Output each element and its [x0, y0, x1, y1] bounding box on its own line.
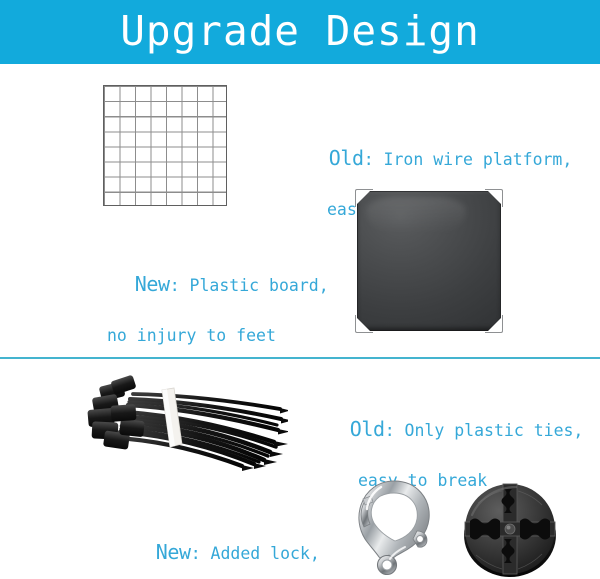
new-keyword: New	[135, 272, 170, 296]
board-corner-top-right	[485, 189, 503, 207]
board-edge-shading	[357, 191, 501, 331]
old-keyword: Old	[350, 417, 385, 441]
section-divider	[0, 357, 600, 359]
black-plastic-board-image	[357, 191, 501, 331]
board-corner-bottom-left	[355, 315, 373, 333]
metal-lobster-clasp-image	[343, 477, 445, 577]
new-platform-line2: no injury to feet	[95, 323, 329, 348]
new-lock-line1: Added lock,	[201, 544, 320, 563]
infographic-page: Upgrade Design Old: Iron wire platform, …	[0, 0, 600, 579]
new-separator: :	[191, 544, 201, 563]
old-ties-line1: Only plastic ties,	[395, 421, 584, 440]
board-corner-bottom-right	[485, 315, 503, 333]
new-platform-line1: Plastic board,	[180, 276, 329, 295]
round-connector-illustration	[458, 481, 562, 577]
old-keyword: Old	[329, 146, 364, 170]
new-separator: :	[170, 276, 180, 295]
lobster-clasp-illustration	[343, 477, 445, 577]
page-title: Upgrade Design	[120, 11, 480, 52]
board-corner-top-left	[355, 189, 373, 207]
iron-wire-mesh-platform-image	[103, 85, 227, 206]
round-black-connector-image	[458, 481, 562, 577]
header-banner: Upgrade Design	[0, 0, 600, 64]
old-separator: :	[364, 150, 374, 169]
new-keyword: New	[156, 540, 191, 564]
cable-ties-illustration	[78, 372, 288, 474]
caption-new-lock: New: Added lock, more secure	[116, 515, 320, 579]
old-platform-line1: Iron wire platform,	[374, 150, 573, 169]
old-separator: :	[385, 421, 395, 440]
black-cable-ties-image	[78, 372, 288, 474]
wire-mesh-grid	[103, 85, 227, 206]
